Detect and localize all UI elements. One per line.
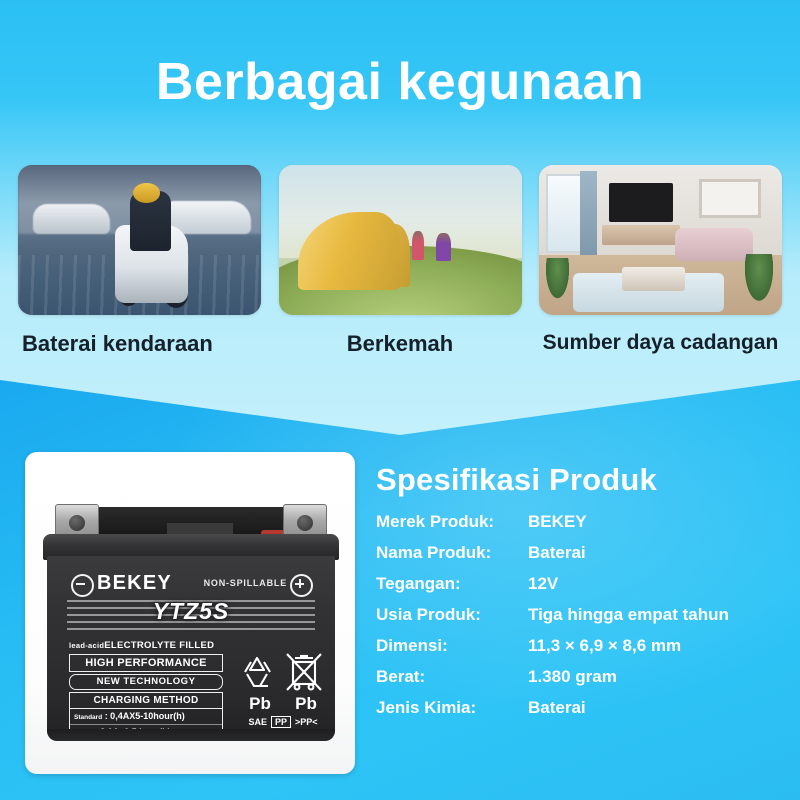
spec-value: BEKEY xyxy=(528,512,786,532)
battery-case-label: BEKEY NON-SPILLABLE YTZ5S lead-acidELECT… xyxy=(47,556,335,740)
spec-row-chemistry: Jenis Kimia: Baterai xyxy=(376,698,786,718)
spec-label: Usia Produk: xyxy=(376,605,528,625)
spec-label: Dimensi: xyxy=(376,636,528,656)
specification-panel: Spesifikasi Produk Merek Produk: BEKEY N… xyxy=(376,462,786,729)
high-performance-badge: HIGH PERFORMANCE xyxy=(69,654,223,672)
spec-label: Merek Produk: xyxy=(376,512,528,532)
non-spillable-text: NON-SPILLABLE xyxy=(204,578,287,588)
use-case-card-backup-power: Sumber daya cadangan xyxy=(539,165,782,357)
use-case-card-vehicle: Baterai kendaraan xyxy=(18,165,261,357)
spec-label: Jenis Kimia: xyxy=(376,698,528,718)
spec-row-brand: Merek Produk: BEKEY xyxy=(376,512,786,532)
charging-standard-label: Standard xyxy=(74,714,102,721)
pp-boxed-label: PP xyxy=(271,716,291,728)
spec-row-weight: Berat: 1.380 gram xyxy=(376,667,786,687)
minus-terminal-icon xyxy=(71,574,94,597)
spec-row-lifespan: Usia Produk: Tiga hingga empat tahun xyxy=(376,605,786,625)
charging-method-title: CHARGING METHOD xyxy=(70,693,222,709)
battery-brand-row: BEKEY NON-SPILLABLE xyxy=(47,572,335,596)
spec-label: Nama Produk: xyxy=(376,543,528,563)
product-infographic: Berbagai kegunaan Baterai kendaraan xyxy=(0,0,800,800)
charging-standard-value: : 0,4AX5-10hour(h) xyxy=(105,711,185,721)
scooter-rider-in-rain-photo xyxy=(18,165,261,315)
charging-standard-row: Standard : 0,4AX5-10hour(h) xyxy=(70,709,222,725)
specification-title: Spesifikasi Produk xyxy=(376,462,786,498)
use-case-caption: Sumber daya cadangan xyxy=(539,331,782,355)
spec-row-dimensions: Dimensi: 11,3 × 6,9 × 8,6 mm xyxy=(376,636,786,656)
camping-tent-on-hill-photo xyxy=(279,165,522,315)
recycle-and-bin-icons xyxy=(237,650,329,694)
use-case-caption: Berkemah xyxy=(279,331,522,357)
living-room-interior-photo xyxy=(539,165,782,315)
battery-base-shadow xyxy=(47,729,335,741)
use-case-card-camping: Berkemah xyxy=(279,165,522,357)
battery-model-text: YTZ5S xyxy=(47,598,335,625)
spec-row-product-name: Nama Produk: Baterai xyxy=(376,543,786,563)
new-technology-badge: NEW TECHNOLOGY xyxy=(69,674,223,690)
lead-pb-row: Pb Pb xyxy=(237,694,329,714)
pb-label-left: Pb xyxy=(249,694,271,714)
spec-label: Tegangan: xyxy=(376,574,528,594)
page-title: Berbagai kegunaan xyxy=(0,50,800,114)
electrolyte-prefix: lead-acid xyxy=(69,641,104,650)
battery-brand-text: BEKEY xyxy=(97,572,172,595)
spec-value: Baterai xyxy=(528,698,786,718)
electrolyte-main: ELECTROLYTE FILLED xyxy=(104,640,214,651)
use-case-caption: Baterai kendaraan xyxy=(18,331,261,357)
spec-value: 1.380 gram xyxy=(528,667,786,687)
sae-label: SAE xyxy=(248,717,267,727)
battery-electrolyte-text: lead-acidELECTROLYTE FILLED xyxy=(69,640,214,651)
pb-label-right: Pb xyxy=(295,694,317,714)
sae-pp-row: SAE PP >PP< xyxy=(237,716,329,728)
spec-value: 11,3 × 6,9 × 8,6 mm xyxy=(528,636,786,656)
spec-row-voltage: Tegangan: 12V xyxy=(376,574,786,594)
spec-value: Baterai xyxy=(528,543,786,563)
compliance-icon-row xyxy=(237,650,329,694)
product-image-panel: BEKEY NON-SPILLABLE YTZ5S lead-acidELECT… xyxy=(25,452,355,774)
battery-product-photo: BEKEY NON-SPILLABLE YTZ5S lead-acidELECT… xyxy=(43,504,339,742)
battery-compliance-symbols: Pb Pb SAE PP >PP< xyxy=(237,650,329,738)
spec-value: 12V xyxy=(528,574,786,594)
use-case-card-list: Baterai kendaraan Berkemah xyxy=(18,165,782,357)
plus-terminal-icon xyxy=(290,574,313,597)
pp-marker-label: >PP< xyxy=(295,717,318,727)
spec-label: Berat: xyxy=(376,667,528,687)
spec-value: Tiga hingga empat tahun xyxy=(528,605,786,625)
battery-vent-cover xyxy=(95,507,287,537)
